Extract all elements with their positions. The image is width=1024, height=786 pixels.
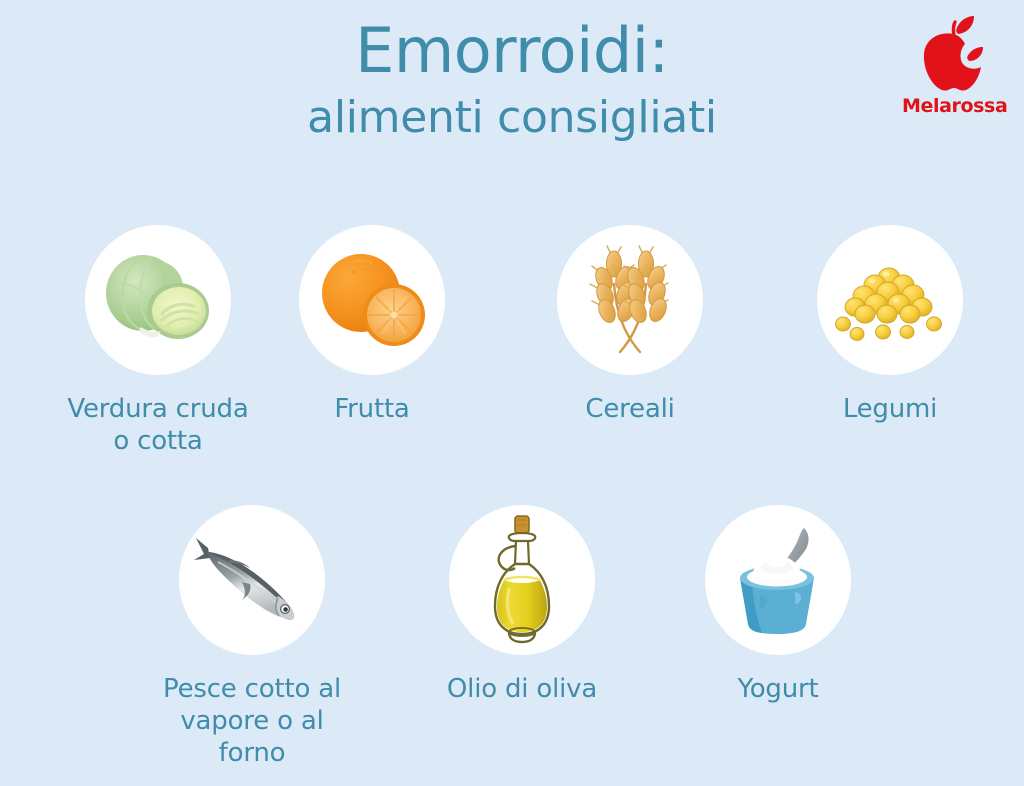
item-legumi-label: Legumi (790, 393, 990, 425)
wheat-icon (574, 242, 686, 358)
item-verdura-label: Verdura cruda o cotta (58, 393, 258, 457)
page-subtitle: alimenti consigliati (0, 90, 1024, 146)
page-title: Emorroidi: (0, 14, 1024, 88)
item-pesce-circle (179, 505, 325, 655)
item-pesce-label: Pesce cotto al vapore o al forno (152, 673, 352, 769)
brand-name: Melarossa (902, 95, 1006, 117)
item-yogurt-label: Yogurt (678, 673, 878, 705)
infographic-canvas: Emorroidi: alimenti consigliati Melaross… (0, 0, 1024, 786)
item-cereali[interactable]: Cereali (530, 225, 730, 425)
item-frutta[interactable]: Frutta (272, 225, 472, 425)
item-olio[interactable]: Olio di oliva (422, 505, 622, 705)
item-olio-label: Olio di oliva (422, 673, 622, 705)
chickpeas-icon (831, 252, 949, 348)
header: Emorroidi: alimenti consigliati (0, 14, 1024, 146)
fish-icon (190, 530, 314, 630)
item-yogurt-circle (705, 505, 851, 655)
item-verdura[interactable]: Verdura cruda o cotta (58, 225, 258, 457)
item-pesce[interactable]: Pesce cotto al vapore o al forno (152, 505, 352, 769)
item-legumi-circle (817, 225, 963, 375)
item-verdura-circle (85, 225, 231, 375)
item-frutta-label: Frutta (272, 393, 472, 425)
item-olio-circle (449, 505, 595, 655)
cabbage-icon (99, 245, 217, 355)
brand-logo: Melarossa (902, 14, 1006, 117)
item-yogurt[interactable]: Yogurt (678, 505, 878, 705)
item-legumi[interactable]: Legumi (790, 225, 990, 425)
olive-oil-bottle-icon (479, 514, 565, 646)
item-frutta-circle (299, 225, 445, 375)
item-cereali-label: Cereali (530, 393, 730, 425)
yogurt-bowl-icon (722, 520, 834, 640)
orange-icon (314, 246, 430, 354)
bitten-apple-icon (915, 14, 993, 94)
item-cereali-circle (557, 225, 703, 375)
